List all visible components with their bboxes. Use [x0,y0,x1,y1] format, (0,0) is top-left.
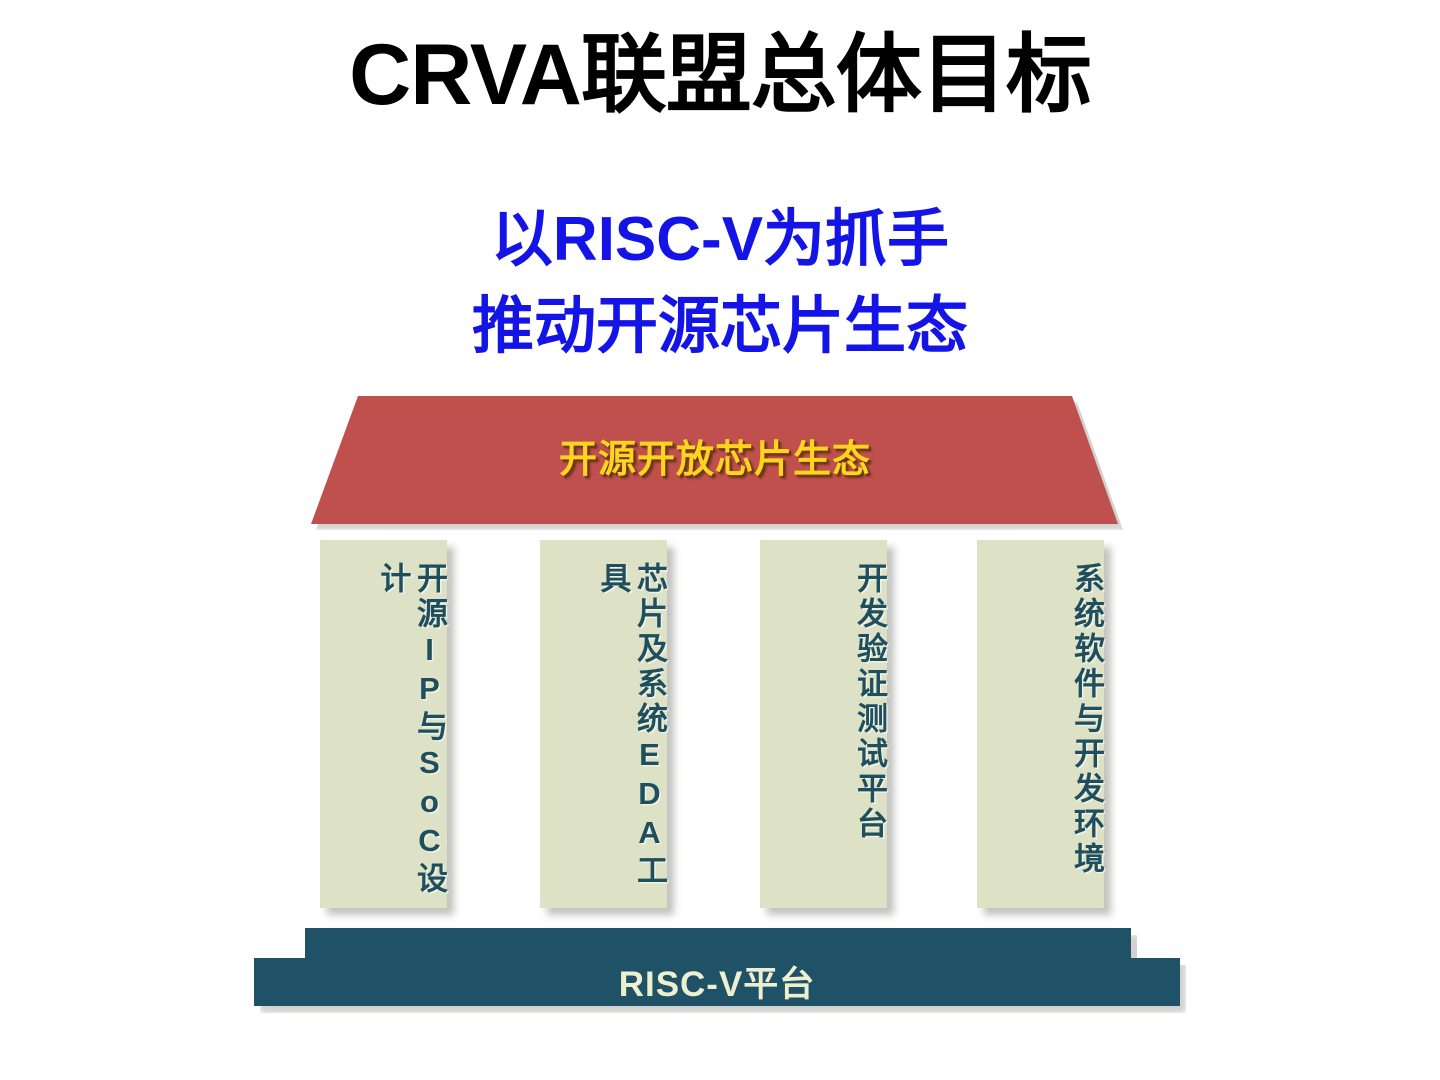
slide-canvas: CRVA联盟总体目标 以RISC-V为抓手 推动开源芯片生态 开源开放芯片生态 … [0,0,1440,1080]
temple-diagram: 开源开放芯片生态 开源IP与SoC设计 芯片及系统EDA工具 开发验证测试平台 … [0,0,1440,1080]
pillar-3: 开发验证测试平台 [760,540,887,908]
pillar-2: 芯片及系统EDA工具 [540,540,667,908]
pillar-1-label: 开源IP与SoC设计 [320,540,447,908]
pillar-1: 开源IP与SoC设计 [320,540,447,908]
pillar-4: 系统软件与开发环境 [977,540,1104,908]
temple-roof: 开源开放芯片生态 [305,396,1125,526]
temple-base: RISC-V平台 [254,928,1186,1010]
pillar-2-label: 芯片及系统EDA工具 [540,540,667,908]
roof-label: 开源开放芯片生态 [305,428,1125,483]
pillar-3-label: 开发验证测试平台 [760,540,887,908]
base-label: RISC-V平台 [254,956,1180,1007]
pillar-4-label: 系统软件与开发环境 [977,540,1104,908]
